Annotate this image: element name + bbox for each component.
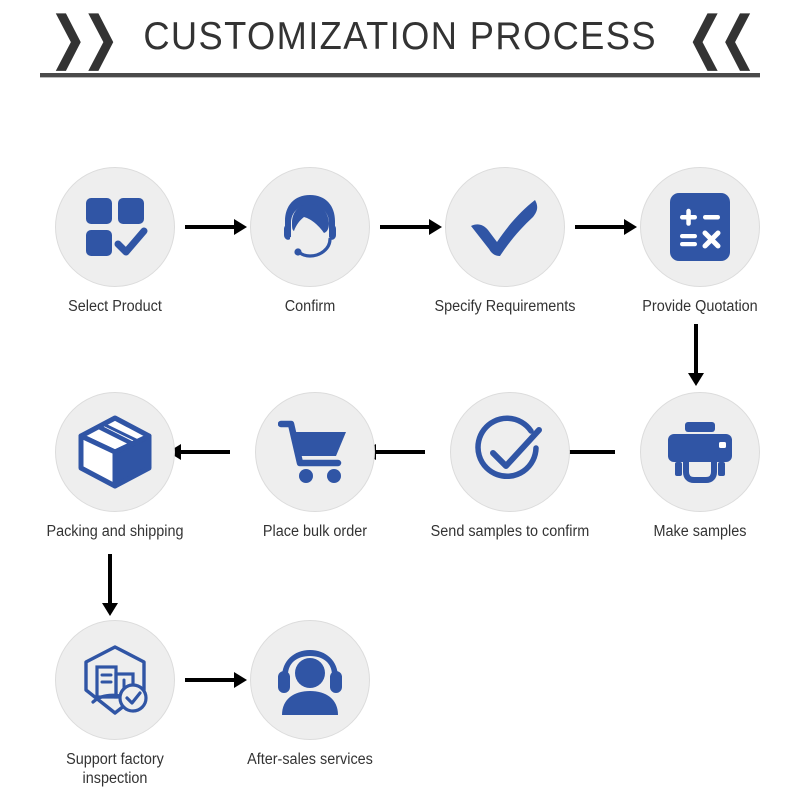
process-step-support-factory-inspection[interactable]: Support factory inspection: [20, 620, 210, 789]
step-icon-bubble: [445, 167, 565, 287]
step-label: Place bulk order: [227, 522, 404, 541]
process-step-send-samples-to-confirm[interactable]: Send samples to confirm: [415, 392, 605, 541]
step-label: Packing and shipping: [27, 522, 204, 541]
step-icon-bubble: [640, 167, 760, 287]
step-icon-bubble: [55, 392, 175, 512]
step-icon-bubble: [450, 392, 570, 512]
process-step-select-product[interactable]: Select Product: [20, 167, 210, 316]
step-label: Select Product: [27, 297, 204, 316]
step-label: Provide Quotation: [612, 297, 789, 316]
step-icon-bubble: [250, 167, 370, 287]
calculator-icon: [668, 191, 732, 263]
process-step-confirm[interactable]: Confirm: [215, 167, 405, 316]
process-step-specify-requirements[interactable]: Specify Requirements: [410, 167, 600, 316]
step-label: After-sales services: [222, 750, 399, 769]
step-label: Make samples: [612, 522, 789, 541]
headset-operator-icon: [272, 189, 348, 265]
double-chevron-left-icon: ❮❮: [686, 8, 751, 66]
step-icon-bubble: [255, 392, 375, 512]
grid-squares-check-icon: [80, 192, 150, 262]
page-title: CUSTOMIZATION PROCESS: [143, 15, 657, 59]
step-icon-bubble: [640, 392, 760, 512]
step-label: Confirm: [222, 297, 399, 316]
step-icon-bubble: [250, 620, 370, 740]
process-step-provide-quotation[interactable]: Provide Quotation: [605, 167, 795, 316]
step-label: Send samples to confirm: [422, 522, 599, 541]
title-row: ❯❯ CUSTOMIZATION PROCESS ❮❮: [0, 6, 800, 68]
step-label: Specify Requirements: [417, 297, 594, 316]
step-icon-bubble: [55, 620, 175, 740]
package-box-icon: [77, 414, 153, 490]
header-divider: [40, 73, 760, 78]
support-agent-icon: [272, 645, 348, 715]
shopping-cart-icon: [278, 419, 352, 485]
process-step-packing-and-shipping[interactable]: Packing and shipping: [20, 392, 210, 541]
process-step-place-bulk-order[interactable]: Place bulk order: [220, 392, 410, 541]
step-icon-bubble: [55, 167, 175, 287]
page-header: ❯❯ CUSTOMIZATION PROCESS ❮❮: [0, 0, 800, 92]
arrow-step8-to-step9: [98, 554, 122, 616]
factory-shield-check-icon: [77, 642, 153, 718]
process-step-make-samples[interactable]: Make samples: [605, 392, 795, 541]
printer-icon: [664, 420, 736, 484]
double-chevron-right-icon: ❯❯: [49, 8, 114, 66]
checkmark-icon: [467, 192, 543, 262]
arrow-step4-to-step5: [684, 324, 708, 386]
process-step-after-sales-services[interactable]: After-sales services: [215, 620, 405, 769]
process-flow-diagram: Select Product Confirm: [0, 92, 800, 800]
step-label: Support factory inspection: [27, 750, 204, 789]
circle-check-icon: [473, 415, 547, 489]
